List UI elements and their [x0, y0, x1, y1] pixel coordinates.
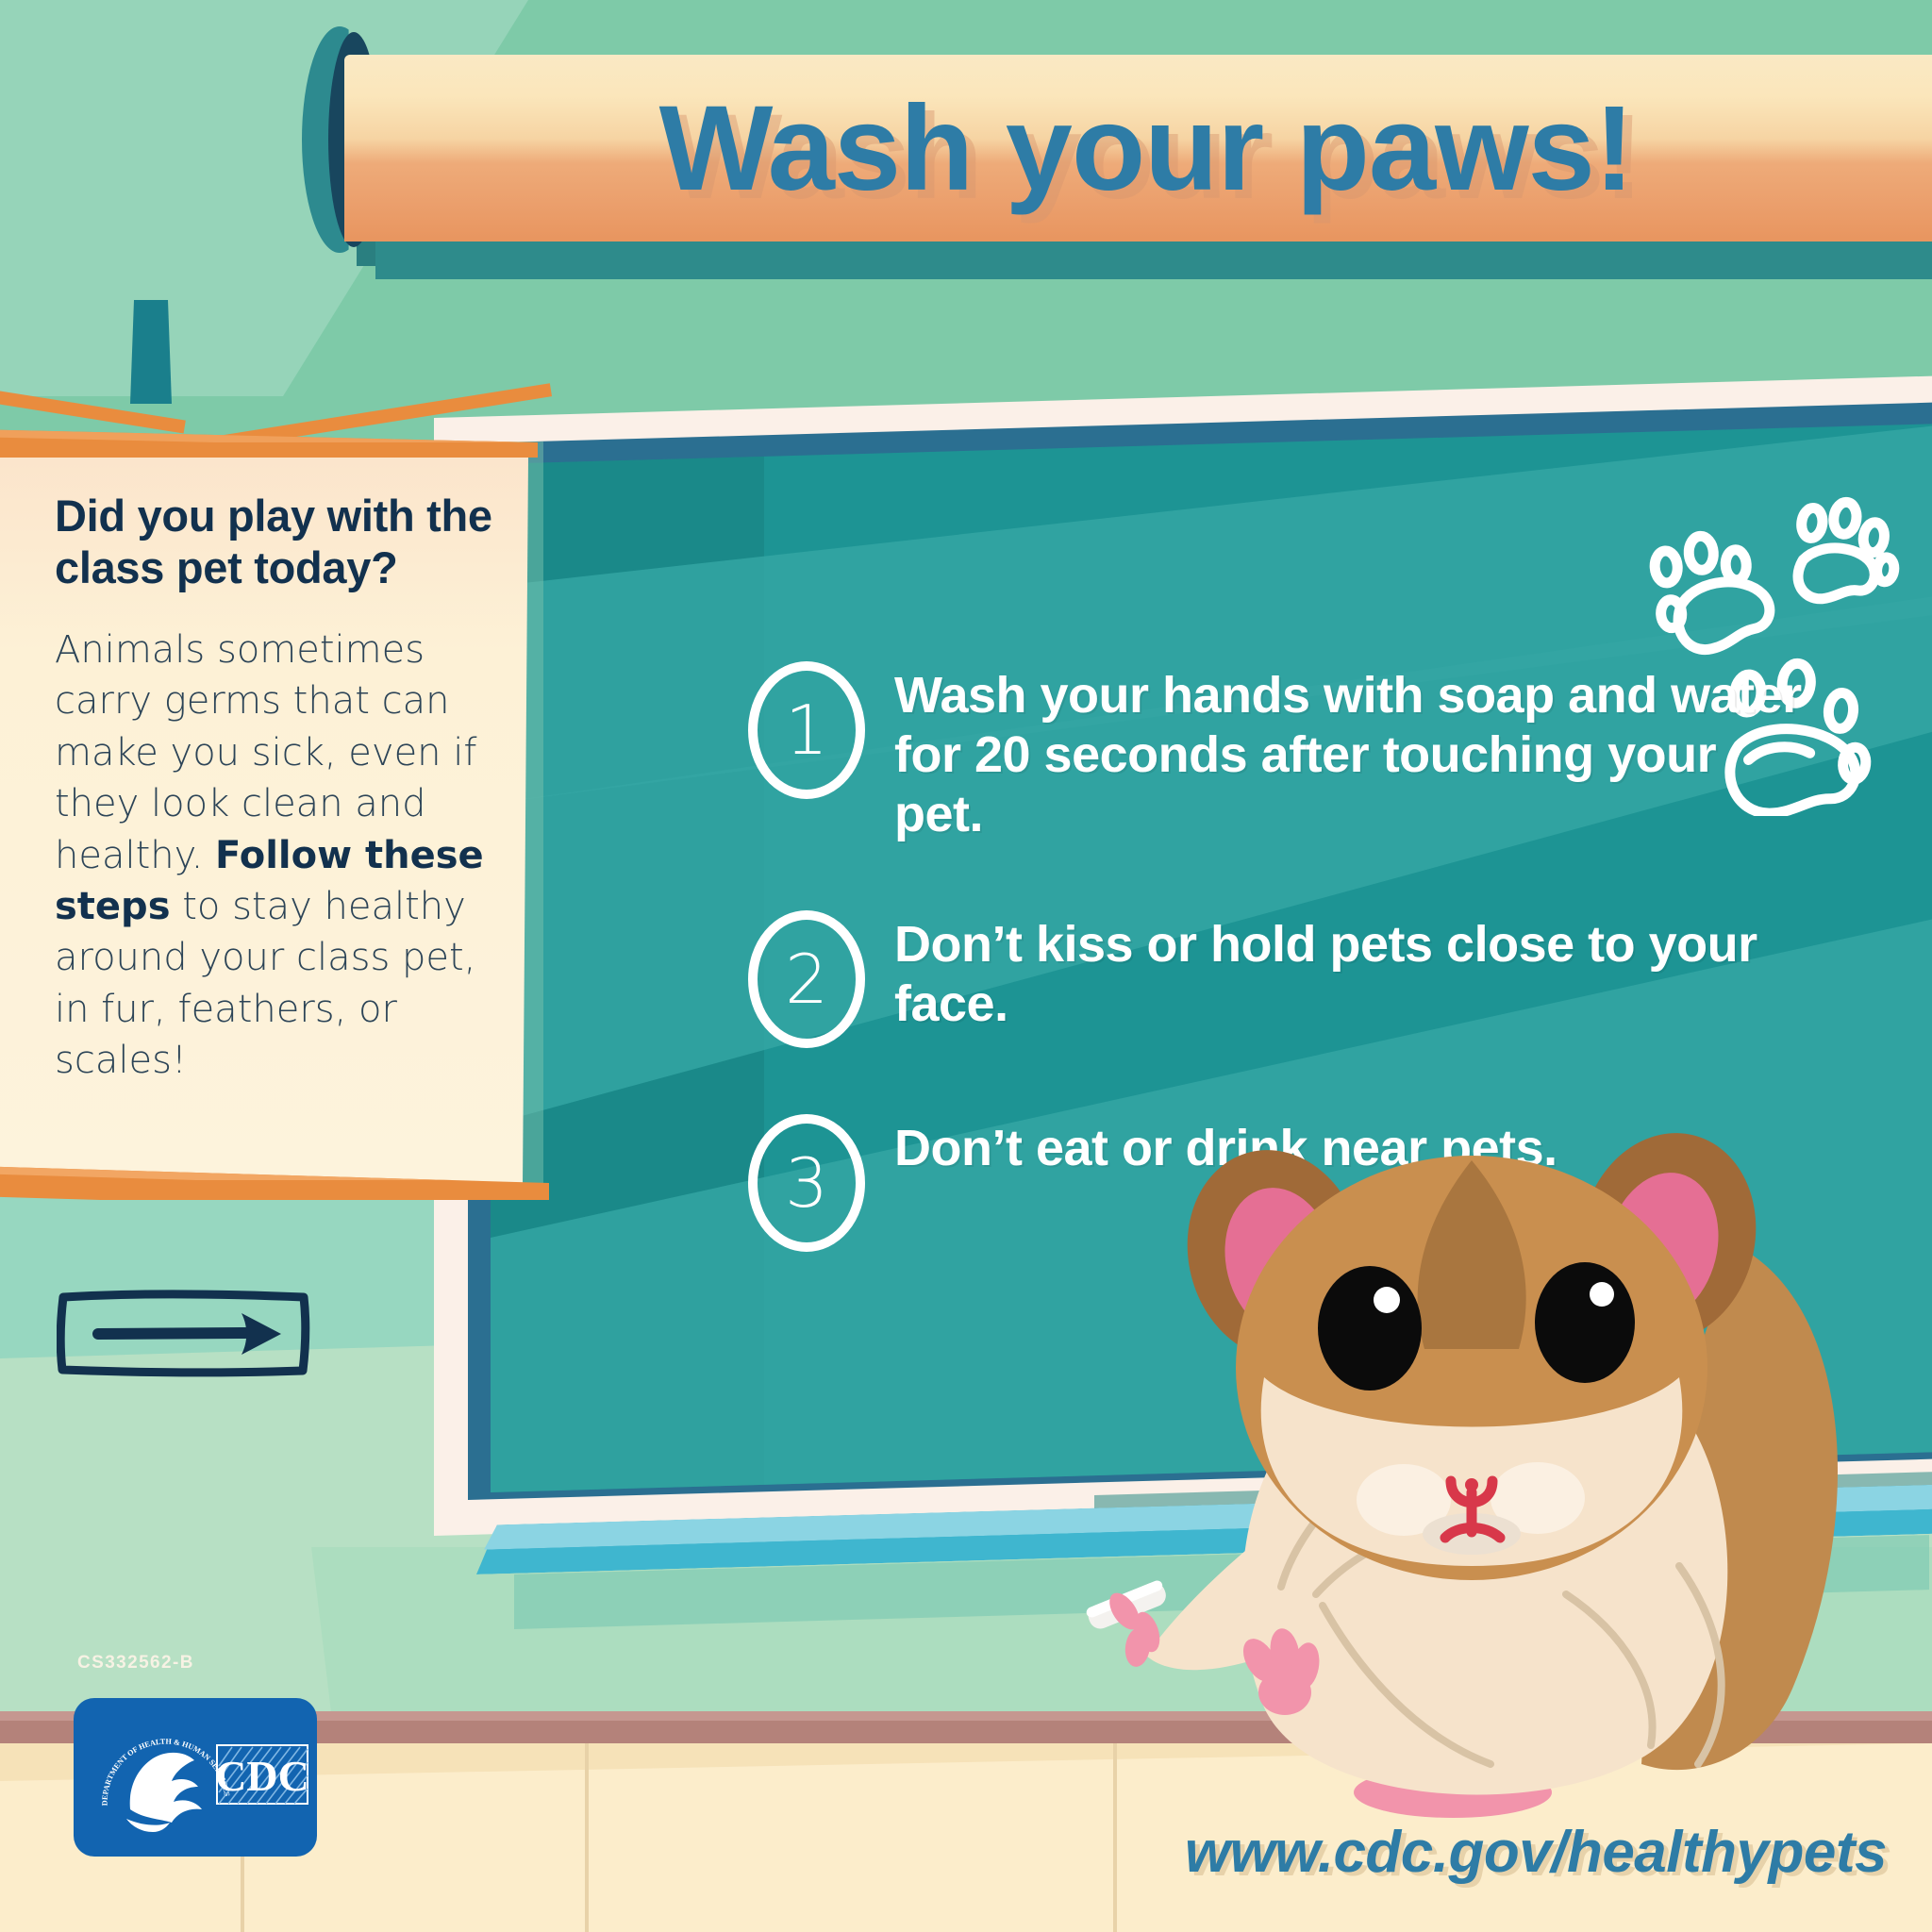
- hhs-seal-icon: [126, 1753, 202, 1832]
- step-number-text: 2: [745, 909, 868, 1049]
- step-number-badge: 1: [745, 660, 868, 800]
- step-number-badge: 2: [745, 909, 868, 1049]
- floor-plank-line: [585, 1743, 589, 1932]
- next-arrow-box[interactable]: [57, 1289, 311, 1377]
- poster-heading: Did you play with the class pet today?: [55, 491, 498, 594]
- cdc-wordmark: CDC: [215, 1745, 309, 1804]
- wall-hook: [130, 300, 172, 404]
- page-title: Wash your paws!: [344, 55, 1932, 241]
- step-text: Don’t kiss or hold pets close to your fa…: [894, 909, 1811, 1034]
- step-number-text: 1: [745, 660, 868, 800]
- cdc-logo-text: CDC: [215, 1752, 309, 1800]
- step-number-text: 3: [745, 1113, 868, 1253]
- hamster-illustration: [1075, 1066, 1932, 1821]
- paw-print-icon: [1791, 496, 1903, 608]
- banner-drop-shadow: [375, 241, 1932, 279]
- poster-content: Did you play with the class pet today? A…: [55, 491, 498, 1086]
- hamster-eye-left: [1318, 1266, 1422, 1391]
- infographic-root: 1 Wash your hands with soap and water fo…: [0, 0, 1932, 1932]
- step-item: 1 Wash your hands with soap and water fo…: [745, 660, 1811, 845]
- website-url[interactable]: www.cdc.gov/healthypets: [1000, 1819, 1887, 1886]
- hamster-eye-right: [1535, 1262, 1635, 1383]
- poster-paragraph: Animals sometimes carry germs that can m…: [55, 625, 498, 1087]
- step-item: 2 Don’t kiss or hold pets close to your …: [745, 909, 1811, 1049]
- cdc-logo: DEPARTMENT OF HEALTH & HUMAN SERVICES·US…: [74, 1698, 317, 1857]
- right-arrow-icon: [98, 1313, 281, 1355]
- cs-number: CS332562-B: [77, 1653, 194, 1674]
- step-text: Wash your hands with soap and water for …: [894, 660, 1811, 845]
- paw-print-icon: [1653, 532, 1772, 653]
- step-number-badge: 3: [745, 1113, 868, 1253]
